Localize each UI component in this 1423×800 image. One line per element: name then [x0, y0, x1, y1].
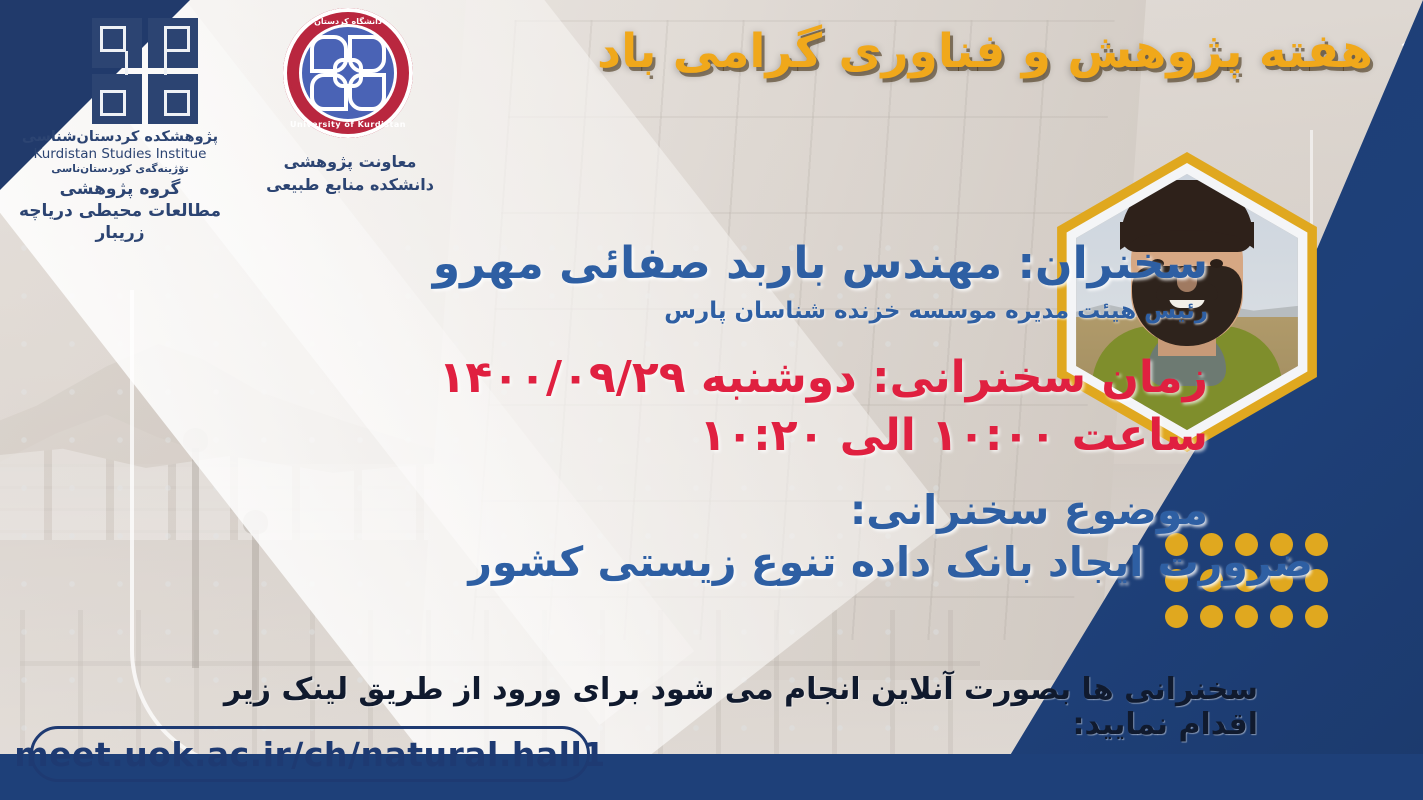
research-group-label: گروه پژوهشی: [0, 178, 240, 200]
dot-icon: [1165, 605, 1188, 628]
poster-headline: هفته پژوهش و فناوری گرامی باد: [597, 24, 1397, 79]
uok-caption-line2: دانشکده منابع طبیعی: [250, 173, 450, 196]
dot-icon: [1200, 605, 1223, 628]
uok-caption: معاونت پژوهشی دانشکده منابع طبیعی: [250, 150, 450, 196]
logo-square: [148, 18, 198, 68]
kurdistan-studies-institute-logo-icon: [92, 18, 202, 128]
topic-title: ضرورت ایجاد بانک داده تنوع زیستی کشور: [418, 538, 1313, 586]
ksi-caption: پژوهشکده کردستان‌شناسی Kurdistan Studies…: [0, 128, 240, 176]
research-group-name: مطالعات محیطی دریاچه زریبار: [0, 200, 240, 244]
logo-square: [92, 18, 142, 68]
dot-icon: [1305, 605, 1328, 628]
logo-square: [148, 74, 198, 124]
seal-center-knot: [333, 58, 363, 88]
speaker-title: رئیس هیئت مدیره موسسه خزنده شناسان پارس: [418, 298, 1208, 324]
logo-inner-square: [164, 90, 190, 116]
photo-eye: [1210, 259, 1223, 268]
ksi-caption-fa: پژوهشکده کردستان‌شناسی: [0, 128, 240, 146]
speaker-name: سخنران: مهندس باربد صفائی مهرو: [418, 238, 1208, 289]
logo-inner-square: [164, 26, 190, 52]
seal-inner-disc: [299, 24, 397, 122]
logo-inner-square: [100, 90, 126, 116]
research-group-caption: گروه پژوهشی مطالعات محیطی دریاچه زریبار: [0, 178, 240, 244]
topic-label: موضوع سخنرانی:: [418, 486, 1208, 534]
logo-inner-square: [100, 26, 126, 52]
university-of-kurdistan-seal-icon: دانشگاه کردستان University of Kurdistan: [283, 8, 413, 138]
ksi-caption-ku: تۆژینەگەی کوردستان‌ناسی: [0, 163, 240, 176]
event-poster: پژوهشکده کردستان‌شناسی Kurdistan Studies…: [0, 0, 1423, 800]
logo-square: [92, 74, 142, 124]
event-date: زمان سخنرانی: دوشنبه ۱۴۰۰/۰۹/۲۹: [418, 352, 1208, 403]
meeting-link-box[interactable]: meet.uok.ac.ir/ch/natural.hall1: [30, 726, 590, 782]
meeting-link[interactable]: meet.uok.ac.ir/ch/natural.hall1: [14, 735, 606, 774]
logo-connector: [125, 51, 128, 75]
uok-caption-line1: معاونت پژوهشی: [250, 150, 450, 173]
event-time: ساعت ۱۰:۰۰ الی ۱۰:۲۰: [418, 410, 1208, 461]
dot-icon: [1270, 605, 1293, 628]
ksi-caption-en: Kurdistan Studies Institue: [0, 146, 240, 163]
dot-icon: [1235, 605, 1258, 628]
logo-connector: [164, 51, 167, 75]
